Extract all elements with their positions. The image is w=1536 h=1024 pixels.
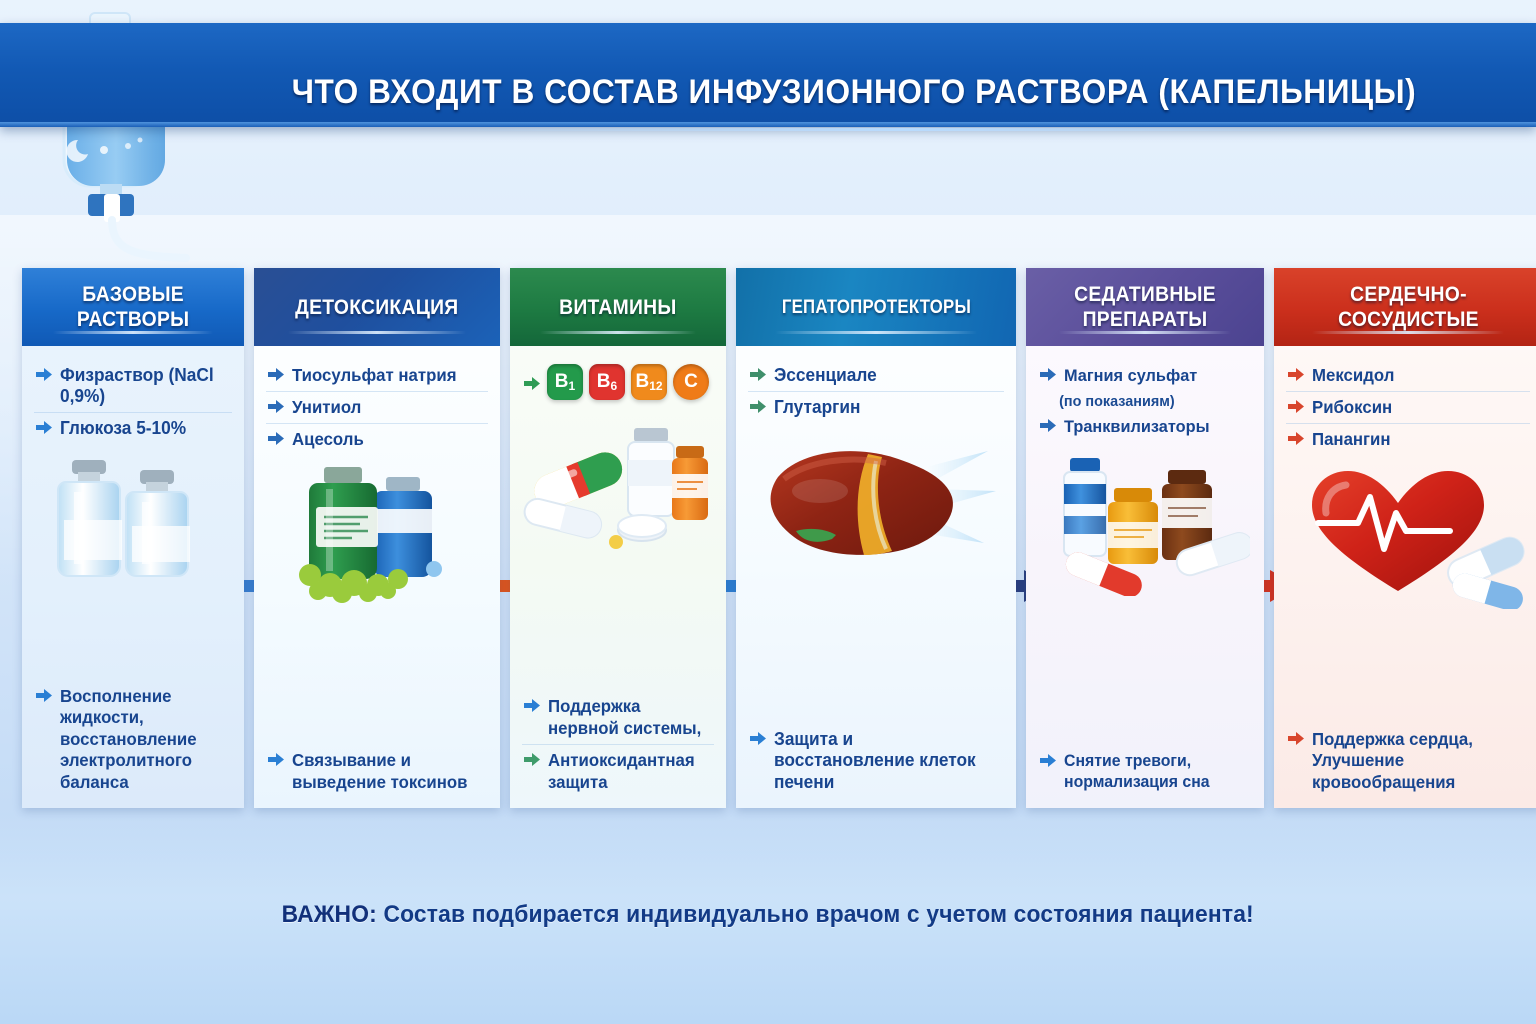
vitamin-badge-letter: B xyxy=(597,371,611,393)
benefit-block: Поддержка сердца, Улучшение кровообращен… xyxy=(1286,718,1530,799)
list-item-label: Ацесоль xyxy=(292,429,364,450)
list-item: Эссенциале xyxy=(748,360,1004,391)
list-item-label: Эссенциале xyxy=(774,365,877,386)
list-item: Глутаргин xyxy=(748,391,1004,423)
card-body-sedatives: Магния сульфат (по показаниям) Транквили… xyxy=(1026,346,1264,808)
benefit-label: Поддержка сердца, Улучшение кровообращен… xyxy=(1312,729,1521,794)
arrow-bullet-icon xyxy=(750,399,767,414)
benefit-block: Связывание и выведение токсинов xyxy=(266,739,488,798)
card-body-base-solutions: Физраствор (NaCl 0,9%) Глюкоза 5-10% xyxy=(22,346,244,808)
benefit-item: Антиоксидантная защита xyxy=(522,744,714,798)
card-cardiovascular[interactable]: СЕРДЕЧНО- СОСУДИСТЫЕ Мексидол Рибоксин xyxy=(1274,268,1536,808)
arrow-bullet-icon xyxy=(36,420,53,435)
card-title: ГЕПАТОПРОТЕКТОРЫ xyxy=(781,295,970,320)
two-glass-vials-icon xyxy=(34,448,232,598)
list-item-label: Глюкоза 5-10% xyxy=(60,418,186,439)
benefit-item: Поддержка сердца, Улучшение кровообращен… xyxy=(1286,724,1530,799)
list-item: Физраствор (NaCl 0,9%) xyxy=(34,360,232,412)
benefit-label: Снятие тревоги, нормализация сна xyxy=(1064,751,1244,793)
card-body-cardiovascular: Мексидол Рибоксин Панангин xyxy=(1274,346,1536,808)
list-item: Глюкоза 5-10% xyxy=(34,412,232,444)
benefit-label: Связывание и выведение токсинов xyxy=(292,750,480,793)
vitamin-badge-sub: 12 xyxy=(649,379,662,393)
card-header-detox: ДЕТОКСИКАЦИЯ xyxy=(254,268,500,346)
arrow-bullet-icon xyxy=(524,376,541,391)
title-underline xyxy=(420,128,1386,131)
card-base-solutions[interactable]: БАЗОВЫЕ РАСТВОРЫ Физраствор (NaCl 0,9%) … xyxy=(22,268,244,808)
arrow-bullet-icon xyxy=(524,698,541,713)
list-item: Ацесоль xyxy=(266,423,488,455)
card-header-sedatives: СЕДАТИВНЫЕ ПРЕПАРАТЫ xyxy=(1026,268,1264,346)
card-body-vitamins: B1 B6 B12 C xyxy=(510,346,726,808)
benefit-block: Защита и восстановление клеток печени xyxy=(748,718,1004,799)
arrow-bullet-icon xyxy=(1040,367,1057,382)
vitamin-badge-b1: B1 xyxy=(547,364,583,400)
list-item: Панангин xyxy=(1286,423,1530,455)
medicine-bottles-and-capsule-icon xyxy=(1038,446,1252,596)
arrow-bullet-icon xyxy=(750,731,767,746)
benefit-label: Защита и восстановление клеток печени xyxy=(774,729,995,794)
list-item: Транквилизаторы xyxy=(1038,411,1252,442)
benefit-item: Связывание и выведение токсинов xyxy=(266,745,488,798)
benefit-item: Поддержка нервной системы, xyxy=(522,691,714,744)
card-header-base-solutions: БАЗОВЫЕ РАСТВОРЫ xyxy=(22,268,244,346)
arrow-bullet-icon xyxy=(268,399,285,414)
benefit-item: Защита и восстановление клеток печени xyxy=(748,724,1004,799)
arrow-bullet-icon xyxy=(36,367,53,382)
footer-note: ВАЖНО: Состав подбирается индивидуально … xyxy=(0,860,1536,970)
list-item-label: Унитиол xyxy=(292,397,361,418)
arrow-bullet-icon xyxy=(1040,753,1057,768)
benefit-item: Восполнение жидкости, восстановление эле… xyxy=(34,681,232,799)
card-header-hepatoprotectors: ГЕПАТОПРОТЕКТОРЫ xyxy=(736,268,1016,346)
list-item-label: Панангин xyxy=(1312,429,1391,450)
card-vitamins[interactable]: ВИТАМИНЫ B1 B6 B12 xyxy=(510,268,726,808)
benefit-block: Снятие тревоги, нормализация сна xyxy=(1038,740,1252,798)
vitamin-badge-c: C xyxy=(673,364,709,400)
card-title: ДЕТОКСИКАЦИЯ xyxy=(295,295,458,320)
benefit-label: Восполнение жидкости, восстановление эле… xyxy=(60,686,225,794)
vitamin-badge-b12: B12 xyxy=(631,364,667,400)
vitamin-badges-row: B1 B6 B12 C xyxy=(522,360,714,402)
list-item-label: Физраствор (NaCl 0,9%) xyxy=(60,365,225,407)
vitamin-badge-letter: C xyxy=(684,371,698,393)
arrow-bullet-icon xyxy=(1288,399,1305,414)
card-title: БАЗОВЫЕ РАСТВОРЫ xyxy=(77,282,189,332)
list-item-label: Тиосульфат натрия xyxy=(292,365,457,386)
list-item: Тиосульфат натрия xyxy=(266,360,488,391)
vitamin-badge-sub: 1 xyxy=(569,379,576,393)
list-item: Мексидол xyxy=(1286,360,1530,391)
benefit-block: Восполнение жидкости, восстановление эле… xyxy=(34,675,232,799)
benefit-block: Поддержка нервной системы, Антиоксидантн… xyxy=(522,685,714,798)
card-title: ВИТАМИНЫ xyxy=(559,295,676,320)
footer-text: ВАЖНО: Состав подбирается индивидуально … xyxy=(282,901,1254,929)
card-sedatives[interactable]: СЕДАТИВНЫЕ ПРЕПАРАТЫ Магния сульфат (по … xyxy=(1026,268,1264,808)
list-item: Унитиол xyxy=(266,391,488,423)
arrow-bullet-icon xyxy=(36,688,53,703)
arrow-bullet-icon xyxy=(1288,731,1305,746)
category-cards-row: БАЗОВЫЕ РАСТВОРЫ Физраствор (NaCl 0,9%) … xyxy=(22,268,1514,808)
capsules-and-pill-bottle-icon xyxy=(522,406,714,556)
arrow-bullet-icon xyxy=(268,367,285,382)
card-title: СЕДАТИВНЫЕ ПРЕПАРАТЫ xyxy=(1074,282,1216,332)
arrow-bullet-icon xyxy=(268,431,285,446)
vitamin-badge-letter: B xyxy=(555,371,569,393)
list-item: Рибоксин xyxy=(1286,391,1530,423)
arrow-bullet-icon xyxy=(268,752,285,767)
header-bar: ЧТО ВХОДИТ В СОСТАВ ИНФУЗИОННОГО РАСТВОР… xyxy=(0,23,1536,127)
list-item-label: Мексидол xyxy=(1312,365,1394,386)
heart-with-ecg-and-capsules-icon xyxy=(1286,459,1530,609)
vitamin-badge-b6: B6 xyxy=(589,364,625,400)
arrow-bullet-icon xyxy=(524,752,541,767)
vitamin-badge-sub: 6 xyxy=(611,379,618,393)
card-header-cardiovascular: СЕРДЕЧНО- СОСУДИСТЫЕ xyxy=(1274,268,1536,346)
card-body-detox: Тиосульфат натрия Унитиол Ацесоль xyxy=(254,346,500,808)
card-title: СЕРДЕЧНО- СОСУДИСТЫЕ xyxy=(1338,282,1479,332)
arrow-bullet-icon xyxy=(1288,431,1305,446)
card-body-hepatoprotectors: Эссенциале Глутаргин xyxy=(736,346,1016,808)
infographic-canvas: ЧТО ВХОДИТ В СОСТАВ ИНФУЗИОННОГО РАСТВОР… xyxy=(0,0,1536,1024)
benefit-label: Поддержка нервной системы, xyxy=(548,696,707,739)
card-detox[interactable]: ДЕТОКСИКАЦИЯ Тиосульфат натрия Унитиол xyxy=(254,268,500,808)
benefit-label: Антиоксидантная защита xyxy=(548,750,707,793)
list-item-note: (по показаниям) xyxy=(1038,391,1243,411)
list-item-label: Магния сульфат xyxy=(1064,365,1197,386)
arrow-bullet-icon xyxy=(1288,367,1305,382)
page-title: ЧТО ВХОДИТ В СОСТАВ ИНФУЗИОННОГО РАСТВОР… xyxy=(246,73,1462,112)
card-header-vitamins: ВИТАМИНЫ xyxy=(510,268,726,346)
footer-prefix: ВАЖНО: xyxy=(282,901,377,928)
footer-body: Состав подбирается индивидуально врачом … xyxy=(377,901,1254,928)
green-blue-bottles-icon xyxy=(266,459,488,609)
card-hepatoprotectors[interactable]: ГЕПАТОПРОТЕКТОРЫ Эссенциале Глутаргин xyxy=(736,268,1016,808)
vitamin-badge-letter: B xyxy=(635,371,649,393)
benefit-item: Снятие тревоги, нормализация сна xyxy=(1038,746,1252,798)
arrow-bullet-icon xyxy=(1040,418,1057,433)
arrow-bullet-icon xyxy=(750,367,767,382)
liver-organ-icon xyxy=(748,427,1004,577)
list-item: Магния сульфат xyxy=(1038,360,1252,391)
list-item-label: Транквилизаторы xyxy=(1064,416,1210,437)
list-item-label: Рибоксин xyxy=(1312,397,1392,418)
list-item-label: Глутаргин xyxy=(774,397,860,418)
